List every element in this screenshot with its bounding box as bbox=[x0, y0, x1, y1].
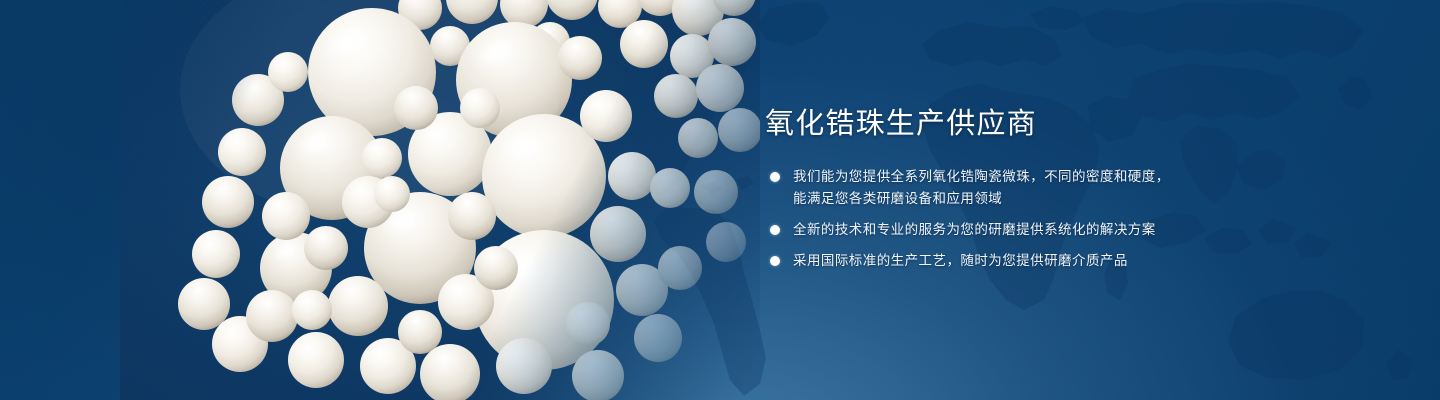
list-item-line: 能满足您各类研磨设备和应用领域 bbox=[793, 188, 1235, 210]
bullet-dot-icon bbox=[770, 172, 780, 182]
bullet-dot-icon bbox=[770, 256, 780, 266]
list-item-line: 全新的技术和专业的服务为您的研磨提供系统化的解决方案 bbox=[793, 219, 1235, 241]
list-item-line: 采用国际标准的生产工艺，随时为您提供研磨介质产品 bbox=[793, 250, 1235, 272]
banner-copy: 氧化锆珠生产供应商 我们能为您提供全系列氧化锆陶瓷微珠，不同的密度和硬度， 能满… bbox=[765, 104, 1235, 272]
feature-list: 我们能为您提供全系列氧化锆陶瓷微珠，不同的密度和硬度， 能满足您各类研磨设备和应… bbox=[765, 166, 1235, 272]
list-item: 全新的技术和专业的服务为您的研磨提供系统化的解决方案 bbox=[765, 219, 1235, 241]
list-item: 采用国际标准的生产工艺，随时为您提供研磨介质产品 bbox=[765, 250, 1235, 272]
list-item: 我们能为您提供全系列氧化锆陶瓷微珠，不同的密度和硬度， 能满足您各类研磨设备和应… bbox=[765, 166, 1235, 210]
zirconia-beads-photo bbox=[120, 0, 760, 400]
hero-banner: 氧化锆珠生产供应商 我们能为您提供全系列氧化锆陶瓷微珠，不同的密度和硬度， 能满… bbox=[0, 0, 1440, 400]
page-title: 氧化锆珠生产供应商 bbox=[765, 104, 1235, 144]
list-item-line: 我们能为您提供全系列氧化锆陶瓷微珠，不同的密度和硬度， bbox=[793, 166, 1235, 188]
bullet-dot-icon bbox=[770, 225, 780, 235]
